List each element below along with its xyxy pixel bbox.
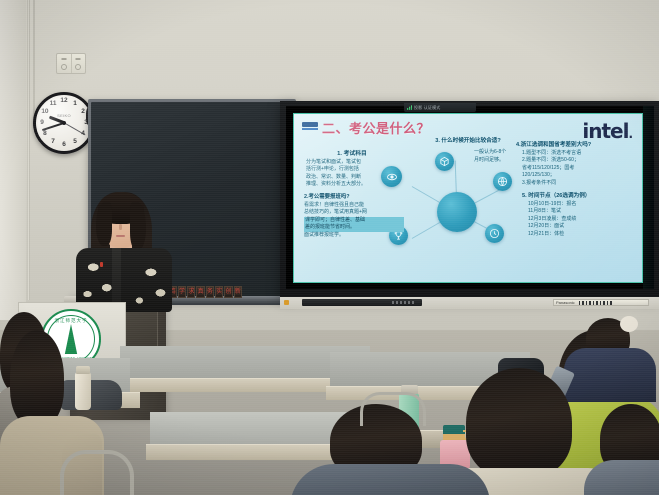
section-2-line: 差的报班能节省时间。 [304,224,404,232]
section-4-line: 1.题型不同：浙选不考言语 [516,150,643,158]
wall-clock: SEIKO 121234567891011 [33,92,95,154]
clock-numeral: 9 [37,120,47,127]
student-top [584,460,659,495]
clock-brand: SEIKO [57,113,71,118]
lecturer-lapel-pin [100,262,103,267]
barcode-line [586,301,588,305]
wall-side-panel [0,0,26,320]
ledge-card: 新 [234,286,242,298]
display-screen[interactable]: 投影 认证模式 二、考公是什么？ intel. [286,106,654,289]
clock-numeral: 8 [40,131,50,138]
clock-numeral: 11 [48,101,58,108]
section-1-line: 推理、资料分析五大部分。 [306,181,398,189]
barcode-line [610,301,612,305]
section-4-line: 2.题量不同：浙选50-60； [516,157,643,165]
section-1-line: 分为笔试和面试，笔试包 [306,159,398,167]
lecturer [64,186,182,310]
display-brand-label: Panasonic [553,299,649,306]
slide-section-3: 3. 什么时候开始比较合适? 一般认为6-8个 月时间足够。 [422,136,514,146]
barcode-line [582,301,584,305]
section-4-line: 3.报考条件不同 [516,180,643,188]
section-1-heading: 1. 考试科目 [306,148,398,157]
clock-numeral: 10 [40,109,50,116]
clock-numeral: 1 [70,101,80,108]
chair-back-mid [360,392,426,426]
screen-bezel-right [643,106,654,289]
section-5-heading: 5. 时间节点（26选调为例） [522,191,643,199]
barcode-line [589,301,591,305]
light-switch-panel[interactable] [56,53,86,74]
section-2-line: 面试推荐报班学。 [304,232,404,240]
student-right-edge [600,404,659,495]
signal-bars-icon [407,105,412,110]
display-status-bar: 投影 认证模式 [404,103,476,112]
ledge-card: 实 [215,286,223,298]
clock-numeral: 6 [59,142,69,149]
barcode-line [607,301,609,305]
section-2-line: 看需求！自律性强且自己能 [304,202,404,210]
light-switch-right[interactable] [72,54,86,73]
section-5-line: 11月8日：笔试 [522,208,643,216]
light-switch-left[interactable] [57,54,72,73]
intel-logo-dot: . [628,127,632,141]
ledge-card: 创 [224,286,232,298]
section-2-heading: 2.考公需要报班吗? [304,192,404,200]
barcode-line [579,301,581,305]
student-hair [10,330,64,426]
clock-numeral: 12 [59,98,69,105]
vertical-conduit-pipe [27,0,30,300]
presentation-slide: 二、考公是什么？ intel. [293,113,643,283]
barcode-line [596,301,598,305]
slide-title: 二、考公是什么？ [322,118,430,137]
chair-back-left [60,450,134,495]
classroom-scene: SEIKO 121234567891011 静思笃学求真务实创新 投影 认证模式… [0,0,659,495]
section-5-line: 12月20日：面试 [522,223,643,231]
globe-icon [493,172,512,191]
section-5-line: 10月10日-19日：报名 [522,201,643,209]
section-4-line: 120/125/130； [516,172,643,180]
ledge-card: 真 [196,286,204,298]
spoke-line-trophy [412,212,458,239]
slide-section-2: 2.考公需要报班吗? 看需求！自律性强且自己能 总结技巧的，笔试用真题+网 课学… [304,192,404,239]
clock-center-pin [62,121,66,125]
display-lower-bezel: Panasonic [280,297,659,309]
spoke-line-cube [455,161,458,213]
display-status-text: 投影 认证模式 [414,105,441,111]
title-accent-bar [302,122,318,127]
power-led [284,300,289,305]
section-4-heading: 4.浙江选调和国省考差别大吗? [516,140,643,148]
clock-numeral: 5 [70,139,80,146]
lecturer-hair-strand [96,202,112,246]
section-4-line: 省考115/120/125；国考 [516,165,643,173]
display-brand-text: Panasonic [556,300,575,305]
cube-icon [435,152,454,171]
slide-section-4: 4.浙江选调和国省考差别大吗? 1.题型不同：浙选不考言语 2.题量不同：浙选5… [516,140,643,187]
student-jacket [290,464,490,495]
student-hair [466,368,572,478]
vertical-conduit-pipe-secondary [33,0,35,120]
lecturer-hair-strand [130,202,146,250]
center-hub [437,192,477,232]
lecturer-nose [119,224,122,230]
clock-icon [485,224,504,243]
spoke-line-clock [457,212,498,234]
clock-numeral: 7 [48,139,58,146]
slide-section-5: 5. 时间节点（26选调为例） 10月10日-19日：报名 11月8日：笔试 1… [522,191,643,238]
barcode-line [593,301,595,305]
ledge-card: 求 [187,286,195,298]
spoke-line-globe [457,188,503,213]
clock-numeral: 4 [78,131,88,138]
interactive-whiteboard[interactable]: 投影 认证模式 二、考公是什么？ intel. [280,101,659,297]
section-2-line: 总结技巧的，笔试用真题+网 [304,209,404,217]
student-hair-clip [620,316,638,332]
section-3-heading: 3. 什么时候开始比较合适? [422,136,514,144]
display-control-strip[interactable] [302,299,422,306]
barcode-line [600,301,602,305]
spoke-line-eye [412,186,458,213]
section-1-line: 括行测+申论，行测包括 [306,166,398,174]
slide-section-1: 1. 考试科目 分为笔试和面试，笔试包 括行测+申论，行测包括 政治、常识、数量… [306,148,398,189]
ledge-card: 务 [206,286,214,298]
section-5-line: 12月21日：体检 [522,231,643,239]
barcode-line [603,301,605,305]
